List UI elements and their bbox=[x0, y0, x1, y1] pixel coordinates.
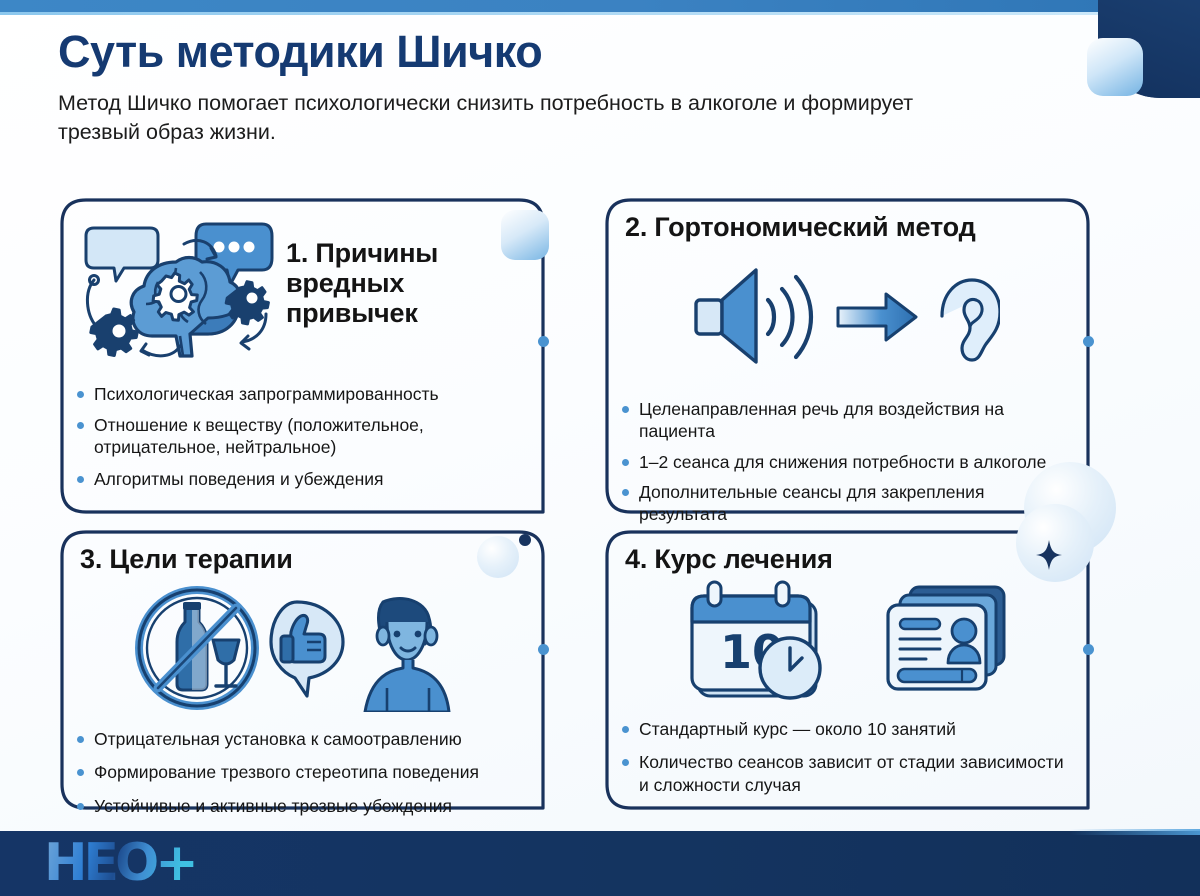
brain-gears-speech-icon bbox=[80, 218, 280, 373]
card-bullet-list: Целенаправленная речь для воздействия на… bbox=[621, 398, 1068, 525]
card-edge-dot bbox=[1083, 336, 1094, 347]
card-gortonomic-method: 2. Гортономический метод bbox=[601, 194, 1088, 518]
calendar-clock-cards-icon: 10 bbox=[621, 580, 1068, 702]
corner-light-square bbox=[1087, 38, 1143, 96]
footer-accent-stripe bbox=[1070, 829, 1200, 835]
card-grid: 1. Причины вредных привычек Психологичес… bbox=[56, 194, 1148, 814]
card-title: 4. Курс лечения bbox=[625, 544, 1068, 574]
list-item: 1–2 сеанса для снижения потребности в ал… bbox=[621, 451, 1068, 473]
infographic-page: Суть методики Шичко Метод Шичко помогает… bbox=[0, 0, 1200, 896]
speaker-arrow-ear-icon bbox=[621, 264, 1068, 368]
card-title: 2. Гортономический метод bbox=[625, 212, 1068, 242]
card-title: 3. Цели терапии bbox=[80, 544, 523, 574]
footer: НЕО+ bbox=[0, 831, 1200, 896]
list-item: Целенаправленная речь для воздействия на… bbox=[621, 398, 1068, 442]
brand-logo: НЕО+ bbox=[44, 837, 195, 889]
list-item: Алгоритмы поведения и убеждения bbox=[76, 468, 523, 490]
list-item: Устойчивые и активные трезвые убеждения bbox=[76, 795, 523, 817]
page-title: Суть методики Шичко bbox=[58, 28, 1058, 75]
card-therapy-goals: 3. Цели терапии bbox=[56, 526, 543, 814]
top-accent-bar bbox=[0, 0, 1148, 12]
card-treatment-course: 4. Курс лечения 10 bbox=[601, 526, 1088, 814]
card-bullet-list: Психологическая запрограммированность От… bbox=[76, 383, 523, 490]
card-bullet-list: Стандартный курс — около 10 занятий Коли… bbox=[621, 718, 1068, 796]
header: Суть методики Шичко Метод Шичко помогает… bbox=[58, 28, 1058, 147]
card-bullet-list: Отрицательная установка к самоотравлению… bbox=[76, 728, 523, 817]
card-causes: 1. Причины вредных привычек Психологичес… bbox=[56, 194, 543, 518]
card-edge-dot bbox=[1083, 644, 1094, 655]
list-item: Отношение к веществу (положительное, отр… bbox=[76, 414, 523, 458]
list-item: Отрицательная установка к самоотравлению bbox=[76, 728, 523, 750]
list-item: Дополнительные сеансы для закрепления ре… bbox=[621, 481, 1068, 525]
page-subtitle: Метод Шичко помогает психологически сниз… bbox=[58, 89, 958, 147]
card-edge-dot bbox=[538, 336, 549, 347]
card-title: 1. Причины вредных привычек bbox=[286, 238, 516, 329]
card-edge-dot bbox=[538, 644, 549, 655]
list-item: Стандартный курс — около 10 занятий bbox=[621, 718, 1068, 740]
no-alcohol-thumbsup-person-icon bbox=[76, 584, 523, 712]
list-item: Психологическая запрограммированность bbox=[76, 383, 523, 405]
list-item: Формирование трезвого стереотипа поведен… bbox=[76, 761, 523, 783]
list-item: Количество сеансов зависит от стадии зав… bbox=[621, 751, 1068, 795]
top-accent-glow bbox=[0, 12, 1148, 15]
